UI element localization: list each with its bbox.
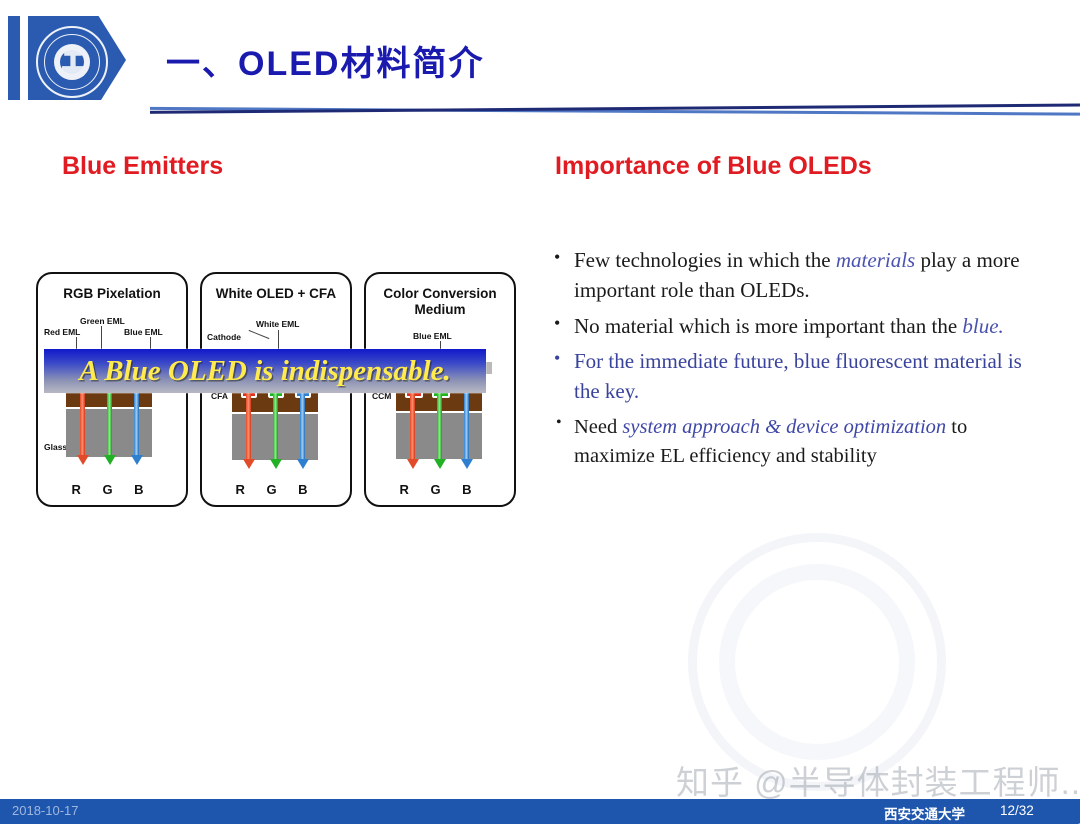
diagram-title: RGB Pixelation: [38, 286, 186, 302]
list-item: No material which is more important than…: [552, 312, 1052, 342]
diagram-label-glass: Glass: [44, 442, 67, 452]
arrow-green: [436, 392, 443, 460]
footer-page-number: 12/32: [1000, 803, 1034, 818]
diagram-title: Color Conversion Medium: [366, 286, 514, 317]
bullet-text: For the immediate future, blue fluoresce…: [574, 349, 1022, 403]
bullet-text: Few technologies in which the: [574, 248, 836, 272]
diagram-title: White OLED + CFA: [202, 286, 350, 302]
list-item: For the immediate future, blue fluoresce…: [552, 347, 1052, 407]
slide: 一、OLED材料简介 Blue Emitters Importance of B…: [0, 0, 1080, 824]
diagram-outputs: R G B: [38, 482, 186, 497]
overlay-banner: A Blue OLED is indispensable.: [44, 349, 486, 393]
arrow-red: [409, 392, 416, 460]
footer-organization: 西安交通大学: [884, 803, 965, 823]
list-item: Need system approach & device optimizati…: [552, 413, 1052, 471]
overlay-banner-text: A Blue OLED is indispensable.: [79, 355, 450, 388]
bullet-emphasis: materials: [836, 248, 915, 272]
diagram-label-blue-eml: Blue EML: [124, 327, 163, 337]
header-accent-bar: [8, 16, 20, 104]
footer-bar: 2018-10-17 西安交通大学 12/32: [0, 799, 1080, 824]
left-section-heading: Blue Emitters: [62, 152, 223, 181]
diagram-title-line1: Color Conversion: [383, 286, 496, 301]
diagram-label-cathode: Cathode: [207, 332, 241, 342]
bullet-emphasis: system approach & device optimization: [622, 416, 946, 438]
bullet-emphasis: blue.: [962, 314, 1003, 338]
seal-emblem-icon: [62, 50, 84, 76]
arrow-green: [272, 390, 279, 460]
bullet-list: Few technologies in which the materials …: [552, 246, 1052, 477]
footer-date: 2018-10-17: [12, 803, 79, 818]
diagram-outputs: R G B: [202, 482, 350, 497]
diagram-label-red-eml: Red EML: [44, 327, 80, 337]
university-seal-icon: [36, 26, 108, 98]
diagram-label-blue-eml: Blue EML: [413, 331, 452, 341]
diagram-outputs: R G B: [366, 482, 514, 497]
page-title: 一、OLED材料简介: [166, 36, 484, 85]
right-section-heading: Importance of Blue OLEDs: [555, 152, 872, 181]
bullet-text: Need: [574, 416, 622, 438]
background-seal-watermark-icon: [688, 533, 946, 791]
leader-line: [249, 330, 270, 339]
diagram-title-line2: Medium: [414, 302, 465, 317]
bullet-text: No material which is more important than…: [574, 314, 962, 338]
arrow-blue: [299, 390, 306, 460]
diagram-label-white-eml: White EML: [256, 319, 299, 329]
header-rule-mask: [0, 100, 150, 122]
zhihu-watermark: 知乎 @半导体封装工程师...: [676, 756, 1080, 804]
list-item: Few technologies in which the materials …: [552, 246, 1052, 306]
arrow-red: [245, 390, 252, 460]
diagram-label-green-eml: Green EML: [80, 316, 125, 326]
